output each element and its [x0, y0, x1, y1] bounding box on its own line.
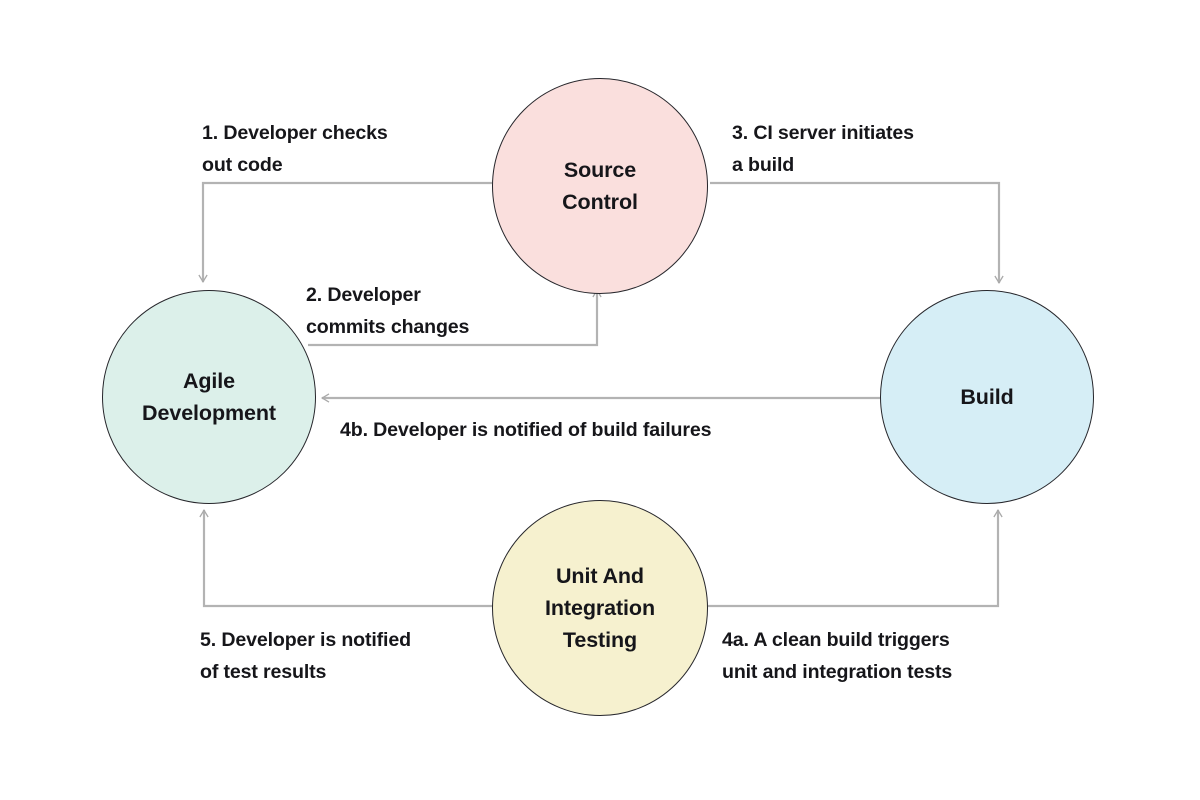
connector-4a: [708, 510, 998, 606]
edge-label-5: 5. Developer is notified of test results: [200, 624, 480, 689]
node-agile-development[interactable]: Agile Development: [102, 290, 316, 504]
connector-1: [203, 183, 492, 282]
node-unit-and-integration-testing-label: Unit And Integration Testing: [535, 560, 665, 657]
node-build-label: Build: [950, 381, 1023, 413]
node-unit-and-integration-testing[interactable]: Unit And Integration Testing: [492, 500, 708, 716]
edge-label-4b: 4b. Developer is notified of build failu…: [340, 414, 840, 446]
connector-5: [204, 510, 494, 606]
diagram-canvas: Source Control Agile Development Build U…: [0, 0, 1200, 800]
node-build[interactable]: Build: [880, 290, 1094, 504]
edge-label-1: 1. Developer checks out code: [202, 117, 462, 182]
edge-label-3: 3. CI server initiates a build: [732, 117, 1002, 182]
connector-3: [710, 183, 999, 283]
node-source-control-label: Source Control: [552, 154, 648, 219]
node-source-control[interactable]: Source Control: [492, 78, 708, 294]
edge-label-2: 2. Developer commits changes: [306, 279, 556, 344]
node-agile-development-label: Agile Development: [132, 365, 286, 430]
edge-label-4a: 4a. A clean build triggers unit and inte…: [722, 624, 1022, 689]
